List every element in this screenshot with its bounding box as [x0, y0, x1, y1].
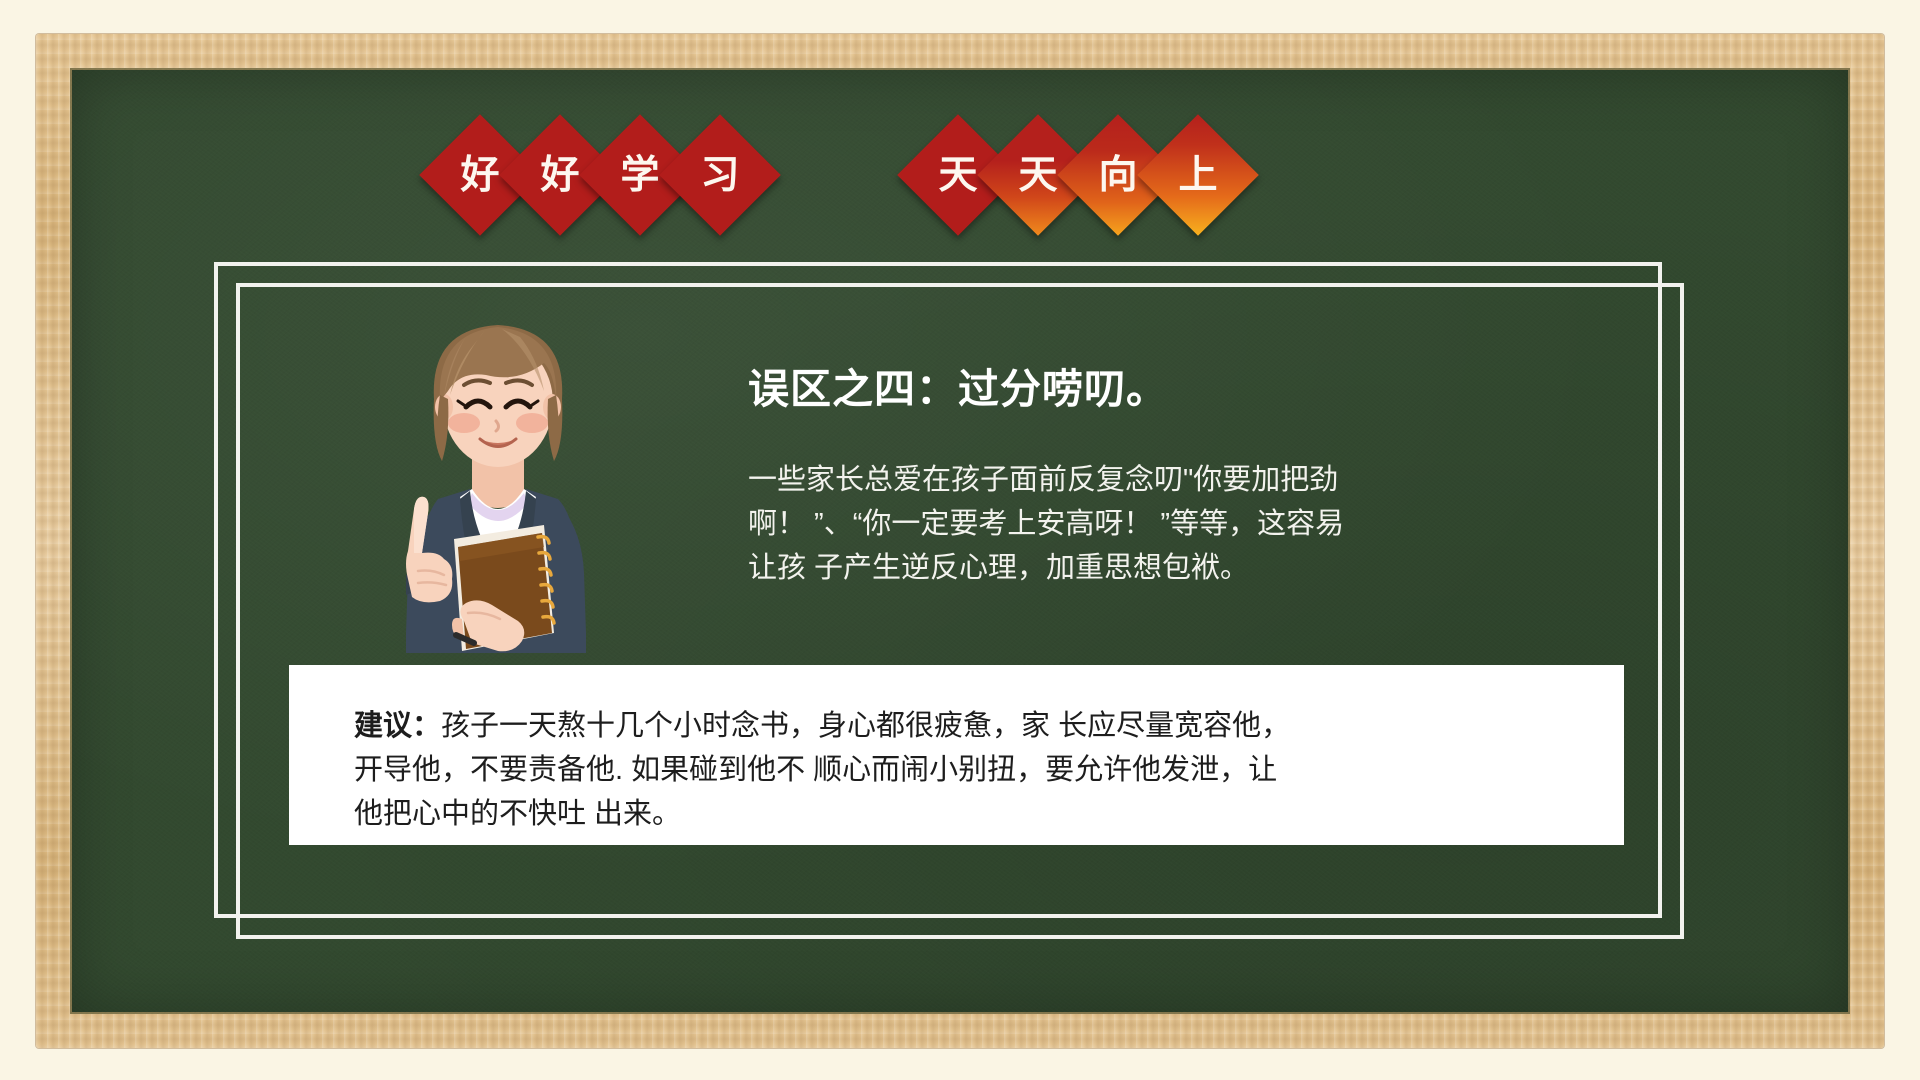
advice-text: 建议：孩子一天熬十几个小时念书，身心都很疲惫，家 长应尽量宽容他， 开导他，不要…: [354, 704, 1594, 836]
body-line: 让孩 子产生逆反心理，加重思想包袱。: [748, 546, 1628, 590]
banner-gap: [760, 175, 918, 176]
advice-line: 建议：孩子一天熬十几个小时念书，身心都很疲惫，家 长应尽量宽容他，: [354, 704, 1594, 748]
diamond-char: 习: [677, 132, 763, 218]
advice-line: 他把心中的不快吐 出来。: [354, 792, 1594, 836]
diamond-tile: 上: [1137, 114, 1259, 236]
diamond-char: 上: [1155, 132, 1241, 218]
teacher-illustration: [368, 303, 628, 653]
advice-line-rest: 孩子一天熬十几个小时念书，身心都很疲惫，家 长应尽量宽容他，: [441, 710, 1290, 742]
diamond-tile: 习: [659, 114, 781, 236]
slide-canvas: 好 好 学 习 天 天 向 上: [0, 0, 1920, 1080]
advice-panel: 建议：孩子一天熬十几个小时念书，身心都很疲惫，家 长应尽量宽容他， 开导他，不要…: [289, 665, 1624, 845]
diamond-group-left: 好 好 学 习: [440, 132, 760, 218]
body-line: 一些家长总爱在孩子面前反复念叨"你要加把劲: [748, 458, 1628, 502]
diamond-group-right: 天 天 向 上: [918, 132, 1238, 218]
diamond-banner: 好 好 学 习 天 天 向 上: [440, 132, 1238, 218]
page-title: 误区之四：过分唠叨。: [748, 355, 1168, 415]
advice-label: 建议：: [354, 710, 441, 742]
advice-line: 开导他，不要责备他. 如果碰到他不 顺心而闹小别扭，要允许他发泄，让: [354, 748, 1594, 792]
content-area: 误区之四：过分唠叨。 一些家长总爱在孩子面前反复念叨"你要加把劲 啊！ ”、“你…: [236, 283, 1684, 939]
body-line: 啊！ ”、“你一定要考上安高呀！ ”等等，这容易: [748, 502, 1628, 546]
body-paragraph: 一些家长总爱在孩子面前反复念叨"你要加把劲 啊！ ”、“你一定要考上安高呀！ ”…: [748, 458, 1628, 590]
